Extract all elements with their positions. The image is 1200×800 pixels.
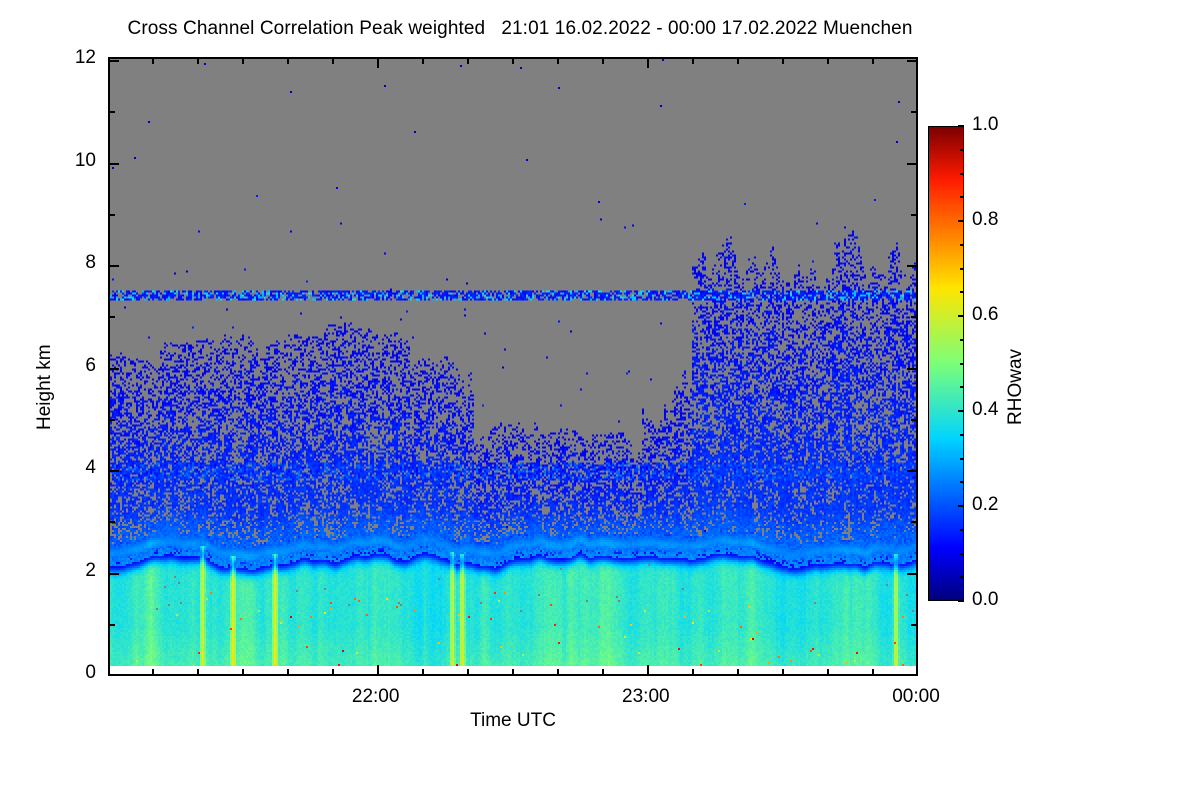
colorbar-tick (958, 220, 964, 222)
x-tick (872, 669, 874, 674)
colorbar-tick (960, 434, 964, 436)
x-tick (512, 669, 514, 674)
y-tick-right-8 (907, 265, 916, 267)
colorbar-tick (960, 363, 964, 365)
y-tick-10 (110, 163, 119, 165)
x-tick (287, 669, 289, 674)
y-tick-label-4: 8 (44, 252, 96, 274)
x-tick-top (512, 59, 514, 64)
colorbar-tick (960, 291, 964, 293)
y-tick-right-12 (907, 60, 916, 62)
heatmap-canvas[interactable] (110, 59, 916, 674)
colorbar-tick (960, 529, 964, 531)
x-tick (467, 669, 469, 674)
colorbar-tick (958, 315, 964, 317)
x-tick (152, 669, 154, 674)
x-tick (377, 665, 379, 674)
x-tick (197, 669, 199, 674)
x-tick-top (737, 59, 739, 64)
x-tick-top (332, 59, 334, 64)
x-tick (557, 669, 559, 674)
colorbar-label-1: 0.2 (972, 494, 998, 516)
colorbar-tick (960, 386, 964, 388)
colorbar-label-3: 0.6 (972, 304, 998, 326)
y-tick-right-2 (907, 573, 916, 575)
colorbar-container[interactable] (928, 126, 964, 601)
colorbar-tick (960, 576, 964, 578)
x-tick-top (467, 59, 469, 64)
y-tick-5 (110, 419, 115, 421)
x-tick-label-0: 22:00 (316, 686, 436, 708)
plot-area[interactable] (108, 57, 918, 676)
y-tick-right-7 (911, 316, 916, 318)
y-tick-label-6: 12 (44, 47, 96, 69)
y-tick-right-4 (907, 470, 916, 472)
x-tick-top (647, 59, 649, 68)
y-tick-right-3 (911, 521, 916, 523)
y-tick-right-6 (907, 368, 916, 370)
x-tick (692, 669, 694, 674)
y-tick-2 (110, 573, 119, 575)
colorbar-tick (960, 268, 964, 270)
y-tick-9 (110, 214, 115, 216)
x-tick (422, 669, 424, 674)
y-tick-label-0: 0 (44, 662, 96, 684)
x-tick-top (602, 59, 604, 64)
colorbar-tick (960, 553, 964, 555)
colorbar-tick (960, 149, 964, 151)
colorbar-label-0: 0.0 (972, 589, 998, 611)
x-tick-top (197, 59, 199, 64)
x-tick (827, 669, 829, 674)
x-tick-top (287, 59, 289, 64)
y-tick-7 (110, 316, 115, 318)
y-tick-8 (110, 265, 119, 267)
y-axis-title: Height km (34, 344, 56, 430)
y-tick-label-5: 10 (44, 150, 96, 172)
y-tick-right-5 (911, 419, 916, 421)
x-tick (602, 669, 604, 674)
colorbar-tick (960, 244, 964, 246)
x-tick-top (872, 59, 874, 64)
x-tick (647, 665, 649, 674)
colorbar-tick (960, 173, 964, 175)
y-tick-1 (110, 624, 115, 626)
y-tick-11 (110, 111, 115, 113)
x-tick (242, 669, 244, 674)
y-tick-6 (110, 368, 119, 370)
y-tick-label-2: 4 (44, 457, 96, 479)
y-tick-label-1: 2 (44, 560, 96, 582)
x-tick-top (377, 59, 379, 68)
x-tick-label-1: 23:00 (586, 686, 706, 708)
x-tick-top (152, 59, 154, 64)
colorbar-label-4: 0.8 (972, 209, 998, 231)
y-tick-12 (110, 60, 119, 62)
colorbar-tick (960, 196, 964, 198)
colorbar-tick (958, 505, 964, 507)
x-tick-top (557, 59, 559, 64)
x-tick-top (422, 59, 424, 64)
x-tick-top (827, 59, 829, 64)
colorbar-tick (958, 125, 964, 127)
y-tick-4 (110, 470, 119, 472)
x-axis-title: Time UTC (108, 710, 918, 732)
y-tick-3 (110, 521, 115, 523)
colorbar-label-2: 0.4 (972, 399, 998, 421)
colorbar-gradient[interactable] (928, 126, 964, 601)
x-tick-label-2: 00:00 (856, 686, 976, 708)
x-tick-top (782, 59, 784, 64)
x-tick (737, 669, 739, 674)
colorbar-tick (958, 600, 964, 602)
x-tick-top (242, 59, 244, 64)
colorbar-tick (958, 410, 964, 412)
y-tick-right-1 (911, 624, 916, 626)
y-tick-right-10 (907, 163, 916, 165)
colorbar-tick (960, 339, 964, 341)
y-tick-right-0 (907, 675, 916, 676)
x-tick-top (692, 59, 694, 64)
colorbar-title: RHOwav (1005, 349, 1027, 425)
y-tick-right-11 (911, 111, 916, 113)
x-tick (332, 669, 334, 674)
colorbar-label-5: 1.0 (972, 114, 998, 136)
colorbar-tick (960, 481, 964, 483)
y-tick-right-9 (911, 214, 916, 216)
colorbar-tick (960, 458, 964, 460)
radar-time-height-figure: Cross Channel Correlation Peak weighted … (0, 0, 1200, 800)
x-tick (782, 669, 784, 674)
page-title: Cross Channel Correlation Peak weighted … (0, 18, 1040, 40)
y-tick-0 (110, 675, 119, 676)
